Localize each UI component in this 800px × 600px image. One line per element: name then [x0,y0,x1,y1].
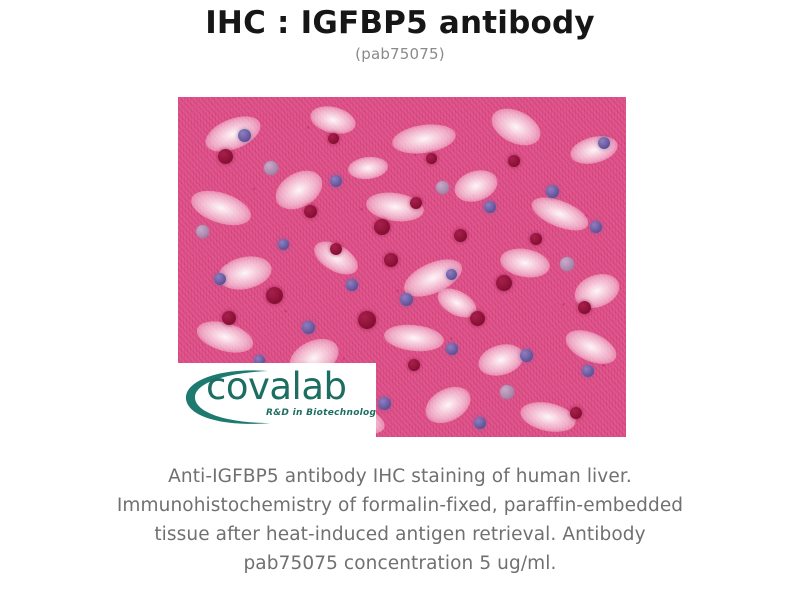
header: IHC : IGFBP5 antibody (pab75075) [0,0,800,63]
covalab-logo: covalab R&D in Biotechnology [178,363,376,437]
page-title: IHC : IGFBP5 antibody [0,0,800,42]
page-subtitle: (pab75075) [0,42,800,63]
figure-caption: Anti-IGFBP5 antibody IHC staining of hum… [50,462,750,578]
document-page: IHC : IGFBP5 antibody (pab75075) [0,0,800,600]
logo-tagline: R&D in Biotechnology [266,408,376,418]
caption-line-1: Anti-IGFBP5 antibody IHC staining of hum… [50,462,750,491]
logo-wordmark: covalab [206,368,347,405]
caption-line-4: pab75075 concentration 5 ug/ml. [50,549,750,578]
caption-line-2: Immunohistochemistry of formalin-fixed, … [50,491,750,520]
caption-line-3: tissue after heat-induced antigen retrie… [50,520,750,549]
